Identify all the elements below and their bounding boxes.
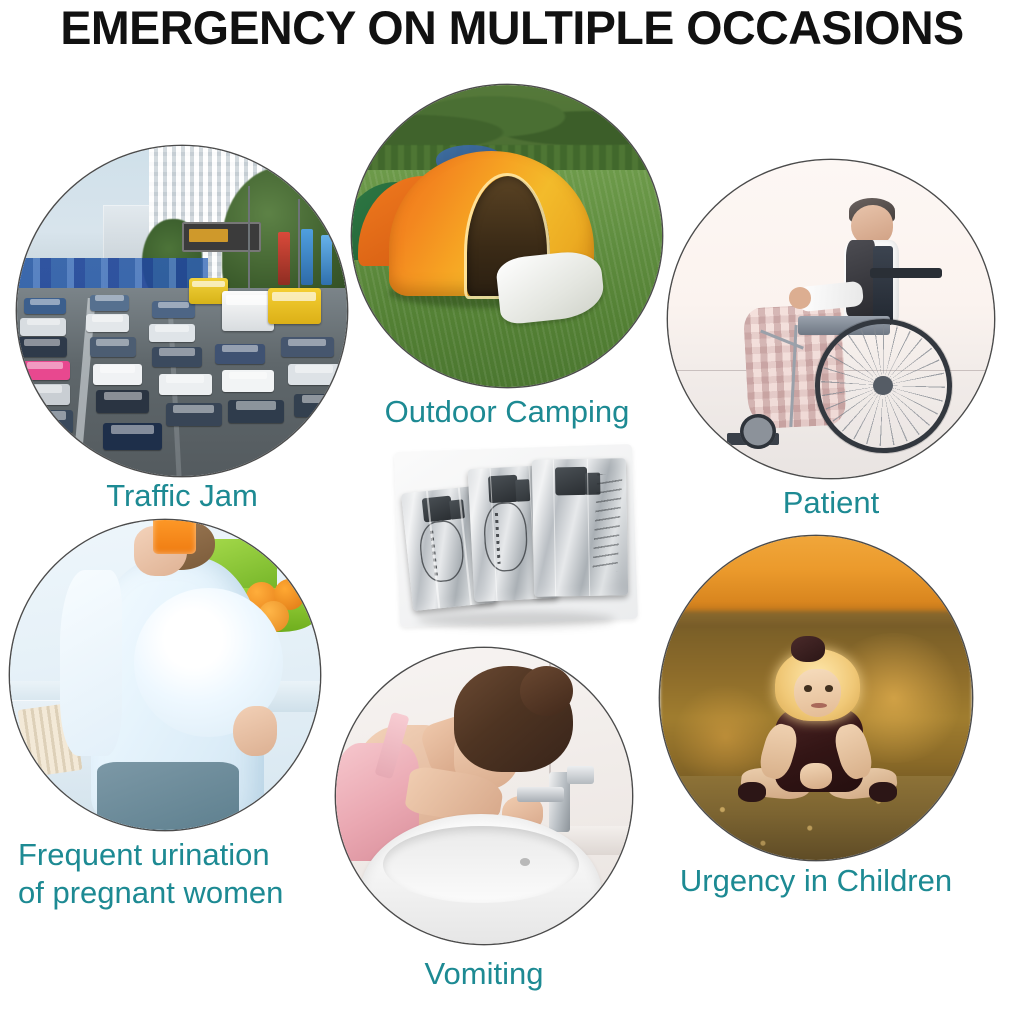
occasion-label-urgency-in-children: Urgency in Children (660, 862, 972, 900)
product-packet (532, 458, 629, 596)
patient-photo (668, 160, 994, 478)
occasion-image-urgency-in-children (660, 536, 972, 860)
occasion-label-patient: Patient (668, 484, 994, 522)
occasion-image-outdoor-camping (352, 85, 662, 387)
occasion-label-line-1: Frequent urination (18, 837, 270, 872)
product-shadow (417, 611, 615, 628)
poster-canvas: EMERGENCY ON MULTIPLE OCCASIONS (0, 0, 1024, 1024)
occasion-label-outdoor-camping: Outdoor Camping (352, 393, 662, 431)
traffic-jam-photo (17, 146, 347, 476)
occasion-image-frequent-urination (10, 520, 320, 830)
occasion-image-traffic-jam (17, 146, 347, 476)
occasion-label-vomiting: Vomiting (336, 955, 632, 993)
occasion-label-line-2: of pregnant women (18, 875, 283, 910)
occasion-label-frequent-urination: Frequent urinationof pregnant women (18, 836, 358, 912)
occasion-label-traffic-jam: Traffic Jam (17, 477, 347, 515)
occasion-image-patient (668, 160, 994, 478)
outdoor-camping-photo (352, 85, 662, 387)
occasion-image-vomiting (336, 648, 632, 944)
child-sunset-photo (660, 536, 972, 860)
page-title: EMERGENCY ON MULTIPLE OCCASIONS (5, 2, 1019, 54)
pregnant-woman-photo (10, 520, 320, 830)
vomiting-photo (336, 648, 632, 944)
product-image-emergency-urine-bags (392, 440, 640, 630)
